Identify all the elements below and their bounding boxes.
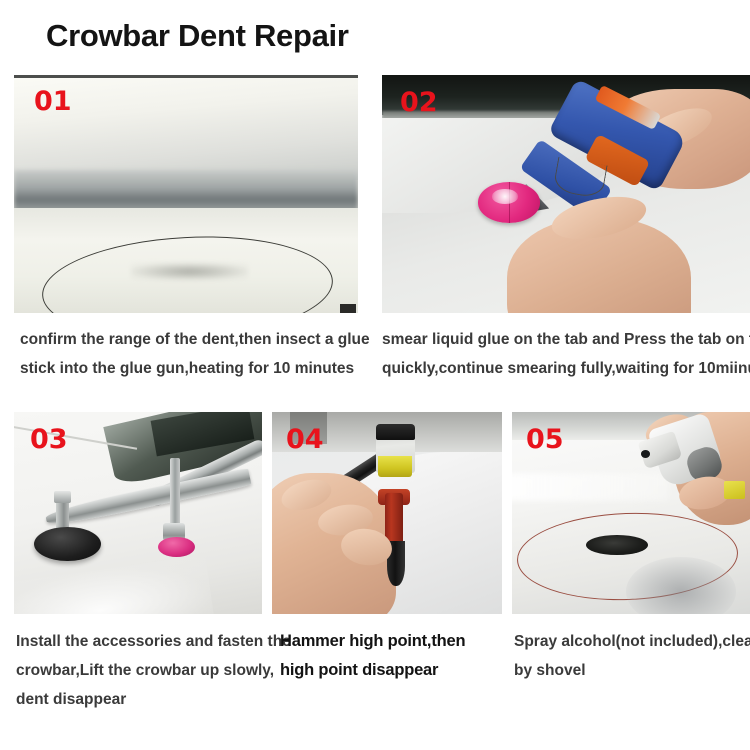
panel-gloss-highlight	[512, 473, 669, 501]
caption-line: high point disappear	[280, 656, 505, 685]
caption-line: confirm the range of the dent,then insec…	[20, 325, 370, 354]
step-image-04: 04	[272, 412, 502, 614]
step-badge-05: 05	[526, 426, 564, 453]
caption-line: smear liquid glue on the tab and Press t…	[382, 325, 750, 354]
step-caption-02: smear liquid glue on the tab and Press t…	[382, 325, 750, 383]
caption-line: by shovel	[514, 656, 750, 685]
adjustment-screw	[54, 491, 71, 503]
step-badge-01: 01	[34, 88, 72, 115]
caption-line: crowbar,Lift the crowbar up slowly,	[16, 656, 266, 685]
caption-line: quickly,continue smearing fully,waiting …	[382, 354, 750, 383]
caption-line: Install the accessories and fasten the	[16, 627, 266, 656]
photo-corner-shadow	[340, 304, 356, 313]
step-image-01: 01	[14, 75, 358, 313]
dent-shadow	[131, 263, 248, 280]
caption-line: Spray alcohol(not included),cleaning	[514, 627, 750, 656]
step-caption-03: Install the accessories and fasten the c…	[16, 627, 266, 714]
hammer-head-cap	[376, 424, 415, 440]
black-rubber-foot	[34, 527, 101, 561]
step-caption-05: Spray alcohol(not included),cleaning by …	[514, 627, 750, 685]
hammer-yellow-face	[378, 456, 413, 476]
step-image-02: 02	[382, 75, 750, 313]
bottle-label	[724, 481, 745, 499]
page-title: Crowbar Dent Repair	[46, 18, 349, 54]
hand-shadow	[626, 557, 735, 614]
step-caption-04: Hammer high point,then high point disapp…	[280, 627, 505, 685]
step-image-03: 03	[14, 412, 262, 614]
photo-top-edge	[14, 75, 358, 78]
step-badge-04: 04	[286, 426, 324, 453]
step-badge-02: 02	[400, 89, 438, 116]
caption-line: dent disappear	[16, 685, 266, 714]
step-image-05: 05	[512, 412, 750, 614]
step-caption-01: confirm the range of the dent,then insec…	[20, 325, 370, 383]
step-badge-03: 03	[30, 426, 68, 453]
caption-line: stick into the glue gun,heating for 10 m…	[20, 354, 370, 383]
applied-glue-blob	[492, 189, 518, 203]
caption-line: Hammer high point,then	[280, 627, 505, 656]
